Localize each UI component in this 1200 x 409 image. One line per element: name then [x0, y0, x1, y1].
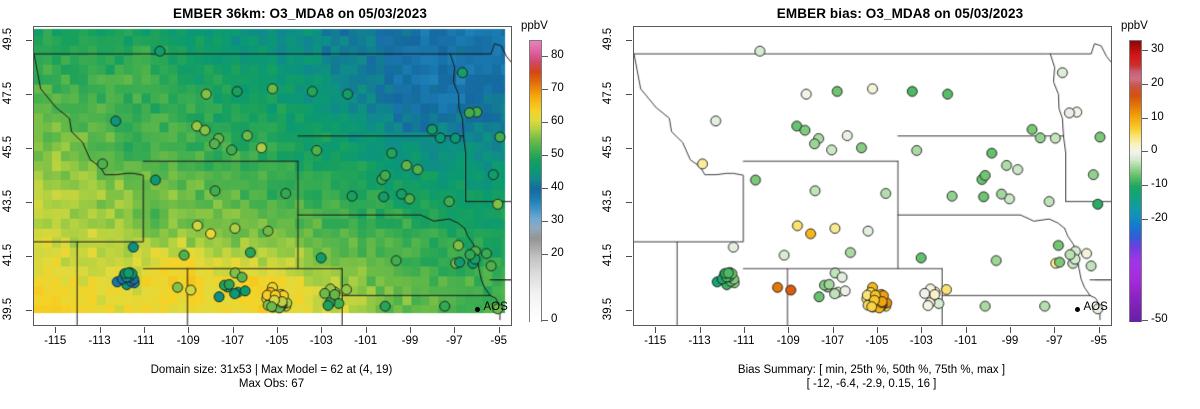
colorbar-tick-label: -20	[1151, 212, 1168, 224]
colorbar-tick-mark	[1142, 151, 1148, 152]
colorbar-tick-mark	[1142, 84, 1148, 85]
colorbar-unit-bias: ppbV	[1121, 20, 1148, 32]
colorbar-gradient-model	[529, 40, 542, 322]
colorbar-tick-mark	[542, 56, 548, 57]
colorbar-model: ppbV 020304050607080	[0, 0, 600, 409]
colorbar-tick-mark	[1142, 185, 1148, 186]
colorbar-tick-mark	[542, 320, 548, 321]
colorbar-segment	[1130, 319, 1141, 322]
figure-root: EMBER 36km: O3_MDA8 on 05/03/2023 AOS 39…	[0, 0, 1200, 409]
colorbar-tick-label: 60	[551, 115, 564, 127]
colorbar-tick-mark	[542, 254, 548, 255]
colorbar-tick-label: 0	[1151, 144, 1157, 156]
colorbar-tick-mark	[542, 122, 548, 123]
colorbar-tick-label: -50	[1151, 313, 1168, 325]
colorbar-tick-label: 10	[1151, 111, 1164, 123]
panel-model: EMBER 36km: O3_MDA8 on 05/03/2023 AOS 39…	[0, 0, 600, 409]
colorbar-tick-label: 20	[1151, 77, 1164, 89]
colorbar-tick-mark	[1142, 118, 1148, 119]
colorbar-tick-mark	[542, 155, 548, 156]
colorbar-tick-label: 0	[551, 313, 557, 325]
colorbar-tick-mark	[1142, 50, 1148, 51]
colorbar-tick-label: -10	[1151, 178, 1168, 190]
colorbar-tick-label: 30	[1151, 43, 1164, 55]
colorbar-bias: ppbV -50-20-100102030	[600, 0, 1200, 409]
colorbar-gradient-bias	[1129, 40, 1142, 322]
colorbar-tick-mark	[1142, 320, 1148, 321]
colorbar-tick-mark	[542, 221, 548, 222]
colorbar-tick-mark	[542, 188, 548, 189]
colorbar-segment	[530, 319, 541, 322]
panel-bias: EMBER bias: O3_MDA8 on 05/03/2023 AOS 39…	[600, 0, 1200, 409]
colorbar-tick-label: 30	[551, 214, 564, 226]
colorbar-tick-mark	[1142, 219, 1148, 220]
colorbar-tick-label: 20	[551, 247, 564, 259]
colorbar-unit-model: ppbV	[521, 20, 548, 32]
colorbar-tick-label: 70	[551, 82, 564, 94]
colorbar-tick-label: 40	[551, 181, 564, 193]
colorbar-tick-label: 80	[551, 49, 564, 61]
colorbar-tick-label: 50	[551, 148, 564, 160]
colorbar-tick-mark	[542, 89, 548, 90]
